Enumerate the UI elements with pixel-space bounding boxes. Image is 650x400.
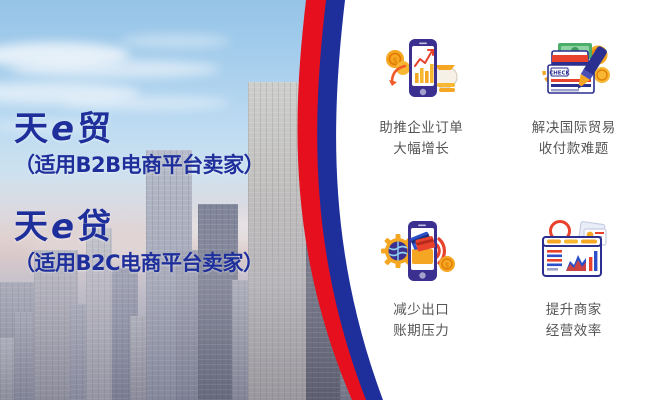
check-label: CHECK [549, 71, 570, 77]
feature-caption: 助推企业订单 大幅增长 [379, 118, 463, 160]
headline-tianyidai: 天e贷 （适用B2C电商平台卖家） [14, 208, 264, 278]
dashboard-analytics-search-icon [531, 214, 617, 290]
feature-caption: 解决国际贸易 收付款难题 [532, 118, 616, 160]
svg-text:$: $ [445, 262, 449, 270]
feature-card-improve-efficiency[interactable]: 提升商家 经营效率 [498, 200, 650, 382]
mobile-payment-card-icon: $ [378, 214, 464, 290]
headline-title-suffix: 贷 [77, 207, 112, 247]
feature-caption-line1: 解决国际贸易 [532, 118, 616, 139]
feature-caption-line1: 提升商家 [546, 300, 602, 321]
headline-title: 天e贸 [14, 110, 264, 148]
headline-title: 天e贷 [14, 208, 264, 246]
feature-caption-line1: 减少出口 [393, 300, 449, 321]
feature-caption-line2: 大幅增长 [379, 139, 463, 160]
feature-caption: 提升商家 经营效率 [546, 300, 602, 342]
svg-text:$: $ [393, 56, 398, 65]
feature-caption-line2: 经营效率 [546, 321, 602, 342]
headline-title-emphasis: e [49, 109, 77, 149]
feature-card-order-growth[interactable]: $ [345, 18, 498, 200]
check-signing-pen-icon: $ CHECK [531, 32, 617, 108]
feature-card-reduce-payment-cycle[interactable]: $ [345, 200, 498, 382]
features-panel: $ [345, 0, 650, 400]
feature-caption-line2: 收付款难题 [532, 139, 616, 160]
smartphone-growth-chart-icon: $ [378, 32, 464, 108]
headline-title-prefix: 天 [14, 109, 49, 149]
feature-caption: 减少出口 账期压力 [393, 300, 449, 342]
features-grid: $ [345, 18, 650, 382]
headline-tianyimao: 天e贸 （适用B2B电商平台卖家） [14, 110, 264, 180]
headline-group: 天e贸 （适用B2B电商平台卖家） 天e贷 （适用B2C电商平台卖家） [0, 0, 300, 400]
feature-card-payment-solution[interactable]: $ CHECK [498, 18, 650, 200]
feature-caption-line2: 账期压力 [393, 321, 449, 342]
headline-subtitle: （适用B2B电商平台卖家） [14, 150, 264, 180]
headline-title-suffix: 贸 [77, 109, 112, 149]
headline-title-prefix: 天 [14, 207, 49, 247]
feature-caption-line1: 助推企业订单 [379, 118, 463, 139]
headline-title-emphasis: e [49, 207, 77, 247]
promo-banner: 天e贸 （适用B2B电商平台卖家） 天e贷 （适用B2C电商平台卖家） $ [0, 0, 650, 400]
headline-subtitle: （适用B2C电商平台卖家） [14, 248, 264, 278]
